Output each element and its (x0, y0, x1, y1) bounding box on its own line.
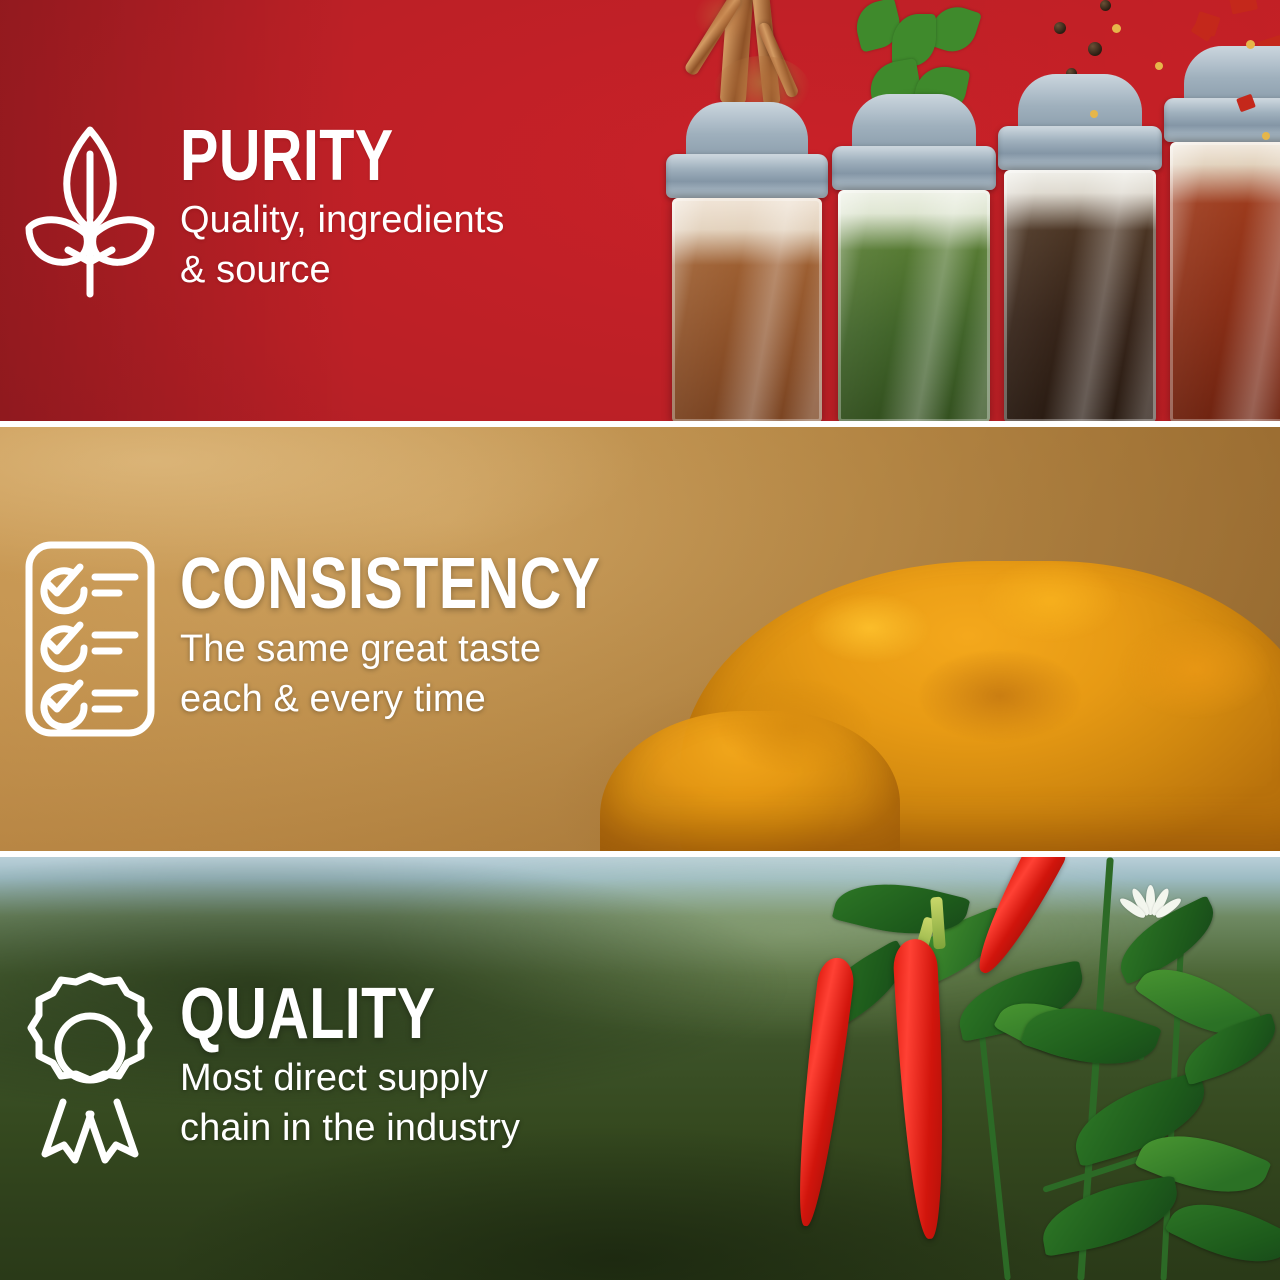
purity-content: PURITY Quality, ingredients & source (0, 0, 1280, 421)
consistency-content: CONSISTENCY The same great taste each & … (0, 427, 1280, 850)
quality-content: QUALITY Most direct supply chain in the … (0, 857, 1280, 1280)
quality-icon-wrap (0, 968, 180, 1168)
purity-icon-wrap (0, 122, 180, 300)
checklist-icon (17, 539, 163, 739)
consistency-subtitle: The same great taste each & every time (180, 624, 1280, 724)
quality-heading: QUALITY (180, 984, 1060, 1044)
consistency-subtitle-line2: each & every time (180, 674, 1280, 724)
consistency-subtitle-line1: The same great taste (180, 624, 1280, 674)
purity-heading: PURITY (180, 126, 1060, 186)
consistency-icon-wrap (0, 539, 180, 739)
brand-values-banner: PURITY Quality, ingredients & source (0, 0, 1280, 1280)
quality-subtitle-line1: Most direct supply (180, 1053, 1280, 1103)
panel-purity: PURITY Quality, ingredients & source (0, 0, 1280, 421)
quality-subtitle: Most direct supply chain in the industry (180, 1053, 1280, 1153)
purity-subtitle: Quality, ingredients & source (180, 195, 1280, 295)
purity-text: PURITY Quality, ingredients & source (180, 126, 1280, 295)
quality-subtitle-line2: chain in the industry (180, 1103, 1280, 1153)
plant-leaf-icon (23, 122, 157, 300)
panel-quality: QUALITY Most direct supply chain in the … (0, 857, 1280, 1280)
panel-consistency: CONSISTENCY The same great taste each & … (0, 427, 1280, 850)
award-ribbon-icon (15, 968, 165, 1168)
purity-subtitle-line2: & source (180, 245, 1280, 295)
purity-subtitle-line1: Quality, ingredients (180, 195, 1280, 245)
consistency-heading: CONSISTENCY (180, 554, 1060, 614)
consistency-text: CONSISTENCY The same great taste each & … (180, 554, 1280, 723)
quality-text: QUALITY Most direct supply chain in the … (180, 984, 1280, 1153)
